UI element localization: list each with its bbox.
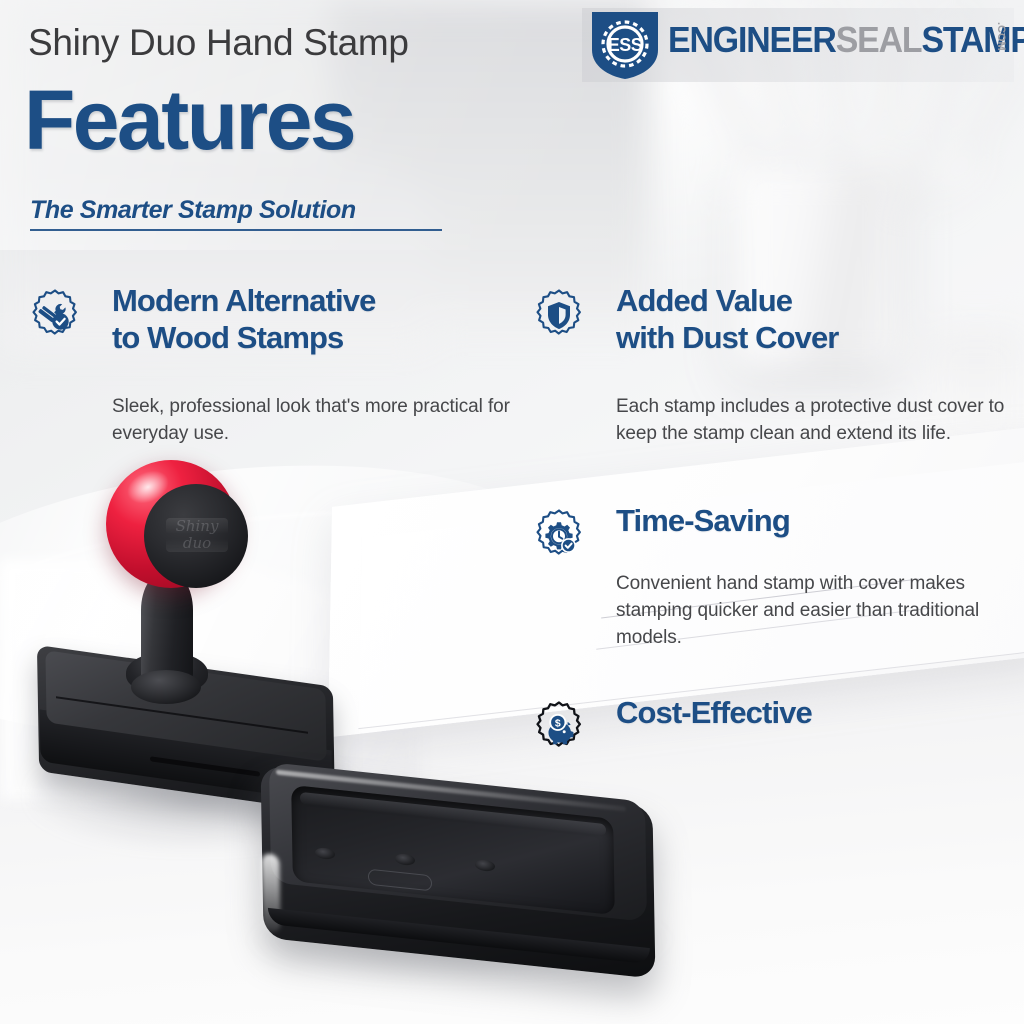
gear-clock-badge-icon	[530, 508, 588, 566]
logo-word-engineer: ENGINEER	[668, 19, 836, 60]
tagline-underline	[30, 229, 442, 231]
tools-check-badge-icon	[26, 288, 84, 346]
piggy-bank-badge-icon: $	[530, 700, 588, 758]
feature-title: Time-Saving	[616, 502, 790, 539]
feature-title-line-2: to Wood Stamps	[112, 320, 343, 355]
content-layer: Shiny Duo Hand Stamp Features The Smarte…	[0, 0, 1024, 1024]
feature-body: Sleek, professional look that's more pra…	[112, 393, 512, 447]
feature-title: Modern Alternative to Wood Stamps	[112, 282, 375, 356]
shield-badge-icon	[530, 288, 588, 346]
feature-title-line-1: Time-Saving	[616, 503, 790, 538]
feature-body: Convenient hand stamp with cover makes s…	[616, 570, 1011, 651]
feature-title-line-1: Cost-Effective	[616, 695, 812, 730]
page-headline: Features	[24, 78, 354, 162]
logo-wordmark: ENGINEERSEALSTAMPS	[668, 22, 1024, 58]
tagline-block: The Smarter Stamp Solution	[30, 196, 442, 231]
feature-title-line-2: with Dust Cover	[616, 320, 838, 355]
infographic-canvas: Shiny duo Shiny Duo Hand Stamp Features …	[0, 0, 1024, 1024]
svg-text:ESS: ESS	[608, 35, 643, 55]
feature-title-line-1: Added Value	[616, 283, 792, 318]
logo-word-stamps: STAMPS	[921, 19, 1024, 60]
product-title: Shiny Duo Hand Stamp	[28, 22, 409, 64]
tagline-text: The Smarter Stamp Solution	[30, 196, 442, 225]
feature-title: Added Value with Dust Cover	[616, 282, 838, 356]
feature-title: Cost-Effective	[616, 694, 812, 731]
logo-dotcom: .COM	[995, 22, 1007, 51]
feature-title-line-1: Modern Alternative	[112, 283, 375, 318]
svg-text:$: $	[555, 718, 561, 730]
logo-word-seal: SEAL	[836, 19, 922, 60]
feature-body: Each stamp includes a protective dust co…	[616, 393, 1006, 447]
ess-gear-badge-icon: ESS	[590, 10, 660, 80]
brand-logo[interactable]: ESS ENGINEERSEALSTAMPS .COM	[582, 8, 1014, 82]
